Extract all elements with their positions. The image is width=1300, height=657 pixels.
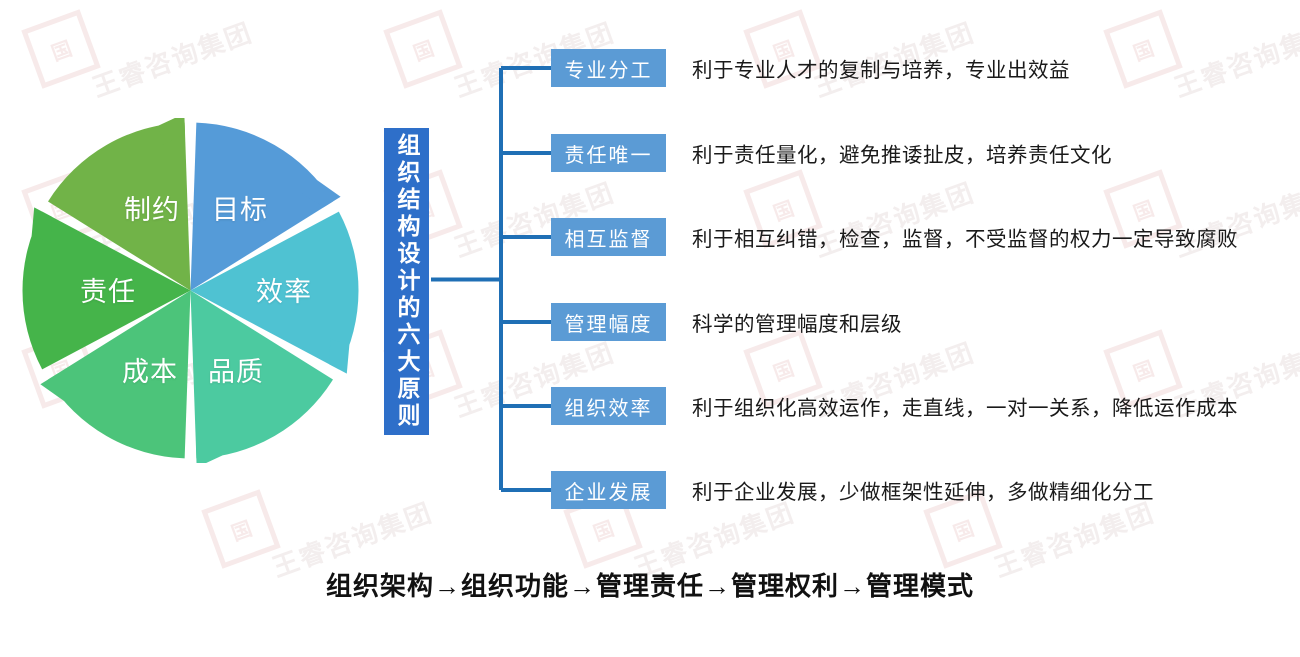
principle-row[interactable]: 企业发展 利于企业发展，少做框架性延伸，多做精细化分工 xyxy=(551,471,1154,509)
principle-node-2[interactable]: 相互监督 xyxy=(551,218,666,256)
principle-node-0[interactable]: 专业分工 xyxy=(551,49,666,87)
principle-desc-4: 利于组织化高效运作，走直线，一对一关系，降低运作成本 xyxy=(692,391,1238,421)
principle-row[interactable]: 责任唯一 利于责任量化，避免推诿扯皮，培养责任文化 xyxy=(551,134,1112,172)
principle-node-label: 管理幅度 xyxy=(565,308,653,337)
principle-node-label: 责任唯一 xyxy=(565,139,653,168)
principle-row[interactable]: 相互监督 利于相互纠错，检查，监督，不受监督的权力一定导致腐败 xyxy=(551,218,1238,256)
principle-desc-0: 利于专业人才的复制与培养，专业出效益 xyxy=(692,53,1070,83)
footer-caption: 组织架构→组织功能→管理责任→管理权利→管理模式 xyxy=(0,566,1300,603)
principle-desc-2: 利于相互纠错，检查，监督，不受监督的权力一定导致腐败 xyxy=(692,222,1238,252)
principle-node-label: 组织效率 xyxy=(565,392,653,421)
principle-node-label: 相互监督 xyxy=(565,223,653,252)
principle-node-5[interactable]: 企业发展 xyxy=(551,471,666,509)
principle-node-4[interactable]: 组织效率 xyxy=(551,387,666,425)
principle-node-1[interactable]: 责任唯一 xyxy=(551,134,666,172)
principle-node-3[interactable]: 管理幅度 xyxy=(551,303,666,341)
principle-desc-3: 科学的管理幅度和层级 xyxy=(692,307,902,337)
principle-desc-1: 利于责任量化，避免推诿扯皮，培养责任文化 xyxy=(692,138,1112,168)
diagram-canvas: 国 王睿咨询集团 国 王睿咨询集团 国 王睿咨询集团 国 王睿咨询集团 国 王睿… xyxy=(0,0,1300,657)
principle-node-label: 企业发展 xyxy=(565,476,653,505)
principle-row[interactable]: 专业分工 利于专业人才的复制与培养，专业出效益 xyxy=(551,49,1070,87)
principle-row[interactable]: 组织效率 利于组织化高效运作，走直线，一对一关系，降低运作成本 xyxy=(551,387,1238,425)
principle-node-label: 专业分工 xyxy=(565,54,653,83)
principle-row[interactable]: 管理幅度 科学的管理幅度和层级 xyxy=(551,303,902,341)
principle-desc-5: 利于企业发展，少做框架性延伸，多做精细化分工 xyxy=(692,475,1154,505)
